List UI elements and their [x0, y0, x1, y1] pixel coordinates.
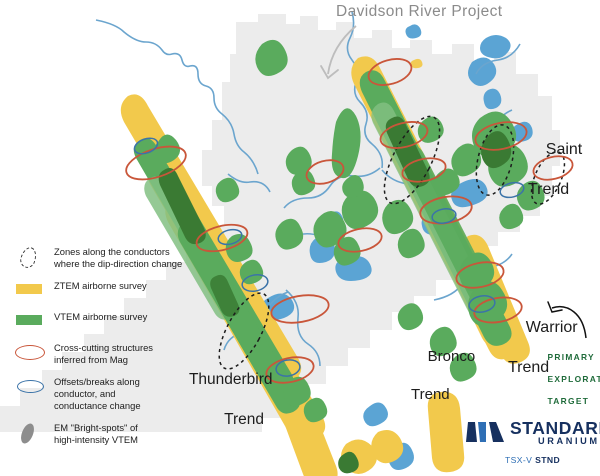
legend-item-vtem: VTEM airborne survey [14, 311, 194, 333]
trend-label-bronco-line1: Bronco [428, 348, 476, 365]
dashed-ellipse-icon [14, 247, 48, 264]
map-legend: Zones along the conductors where the dip… [14, 246, 194, 456]
legend-item-label: Zones along the conductors where the dip… [54, 246, 194, 271]
legend-line-1: EM "Bright-spots" of [54, 422, 138, 433]
legend-line-2: conductor, and [54, 388, 116, 399]
legend-line-1: Cross-cutting structures [54, 342, 153, 353]
trend-label-bronco-line2: Trend [411, 385, 475, 404]
pet-line3: TARGET [548, 396, 590, 406]
yellow-swatch-icon [14, 281, 48, 298]
standard-uranium-logo: STANDARD URANIUM TSX-V STND [466, 417, 594, 469]
legend-item-label: ZTEM airborne survey [54, 280, 194, 292]
logo-mark-icon [466, 419, 504, 445]
trend-label-thunderbird-line1: Thunderbird [189, 371, 273, 388]
legend-item-label: Offsets/breaks along conductor, and cond… [54, 376, 194, 413]
map-figure: Davidson River Project Saint Trend Warri… [0, 0, 600, 476]
legend-line-1: Offsets/breaks along [54, 376, 140, 387]
green-swatch-icon [14, 312, 48, 329]
page-title: Davidson River Project [336, 3, 502, 21]
primary-exploration-target-label: PRIMARY EXPLORATION TARGET [533, 341, 600, 418]
legend-item-dip-direction-zones: Zones along the conductors where the dip… [14, 246, 194, 271]
legend-item-cross-cutting: Cross-cutting structures inferred from M… [14, 342, 194, 367]
legend-item-label: Cross-cutting structures inferred from M… [54, 342, 194, 367]
trend-label-warrior-line1: Warrior [526, 319, 578, 336]
legend-item-bright-spots: EM "Bright-spots" of high-intensity VTEM [14, 422, 194, 447]
orange-ellipse-icon [14, 343, 48, 360]
logo-ticker-symbol: STND [535, 455, 560, 465]
legend-item-offsets: Offsets/breaks along conductor, and cond… [14, 376, 194, 413]
pet-line1: PRIMARY [548, 352, 595, 362]
pet-line2: EXPLORATION [548, 374, 600, 384]
blue-ellipse-icon [14, 377, 48, 394]
trend-label-saint: Saint Trend [528, 120, 582, 240]
logo-company-subname: URANIUM [538, 436, 600, 446]
logo-ticker-exchange: TSX-V [505, 455, 535, 465]
legend-item-label: EM "Bright-spots" of high-intensity VTEM [54, 422, 194, 447]
legend-line-2: where the dip-direction change [54, 258, 182, 269]
legend-line-3: conductance change [54, 400, 141, 411]
legend-line-1: Zones along the conductors [54, 246, 170, 257]
legend-line-1: VTEM airborne survey [54, 311, 147, 322]
trend-label-saint-line1: Saint [546, 141, 582, 158]
gray-blob-icon [14, 423, 48, 440]
legend-line-2: inferred from Mag [54, 354, 128, 365]
trend-label-saint-line2: Trend [528, 180, 582, 200]
legend-line-1: ZTEM airborne survey [54, 280, 147, 291]
legend-item-label: VTEM airborne survey [54, 311, 194, 323]
legend-item-ztem: ZTEM airborne survey [14, 280, 194, 302]
logo-ticker: TSX-V STND [505, 455, 560, 465]
legend-line-2: high-intensity VTEM [54, 434, 138, 445]
